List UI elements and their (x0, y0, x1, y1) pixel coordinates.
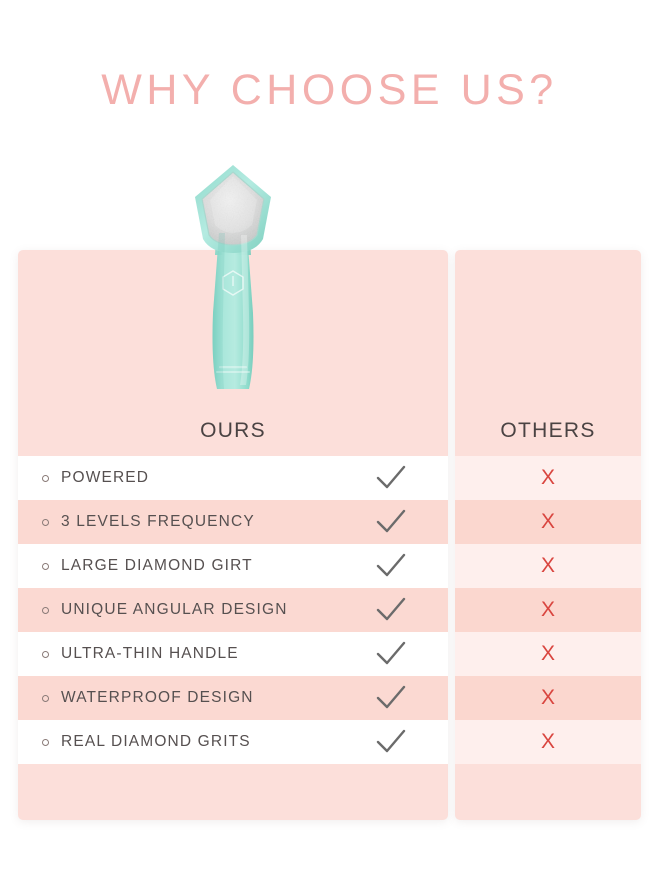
feature-row: REAL DIAMOND GRITS (18, 720, 448, 764)
cross-icon: X (455, 554, 641, 578)
feature-row: LARGE DIAMOND GIRT (18, 544, 448, 588)
feature-label: POWERED (61, 469, 149, 487)
product-image (183, 163, 283, 391)
feature-row: WATERPROOF DESIGN (18, 676, 448, 720)
feature-row: ULTRA-THIN HANDLE (18, 632, 448, 676)
bullet-icon (42, 607, 49, 614)
feature-label: WATERPROOF DESIGN (61, 689, 254, 707)
feature-row: 3 LEVELS FREQUENCY (18, 500, 448, 544)
column-header-others: OTHERS (455, 419, 641, 443)
check-icon (376, 597, 406, 623)
others-row: X (455, 500, 641, 544)
others-row: X (455, 456, 641, 500)
bullet-icon (42, 739, 49, 746)
others-row: X (455, 632, 641, 676)
check-icon (376, 553, 406, 579)
bullet-icon (42, 563, 49, 570)
check-icon (376, 685, 406, 711)
check-icon (376, 729, 406, 755)
ours-feature-list: POWERED3 LEVELS FREQUENCYLARGE DIAMOND G… (18, 456, 448, 764)
bullet-icon (42, 475, 49, 482)
cross-icon: X (455, 730, 641, 754)
others-row: X (455, 544, 641, 588)
cross-icon: X (455, 642, 641, 666)
page-title: WHY CHOOSE US? (0, 66, 659, 115)
others-row: X (455, 676, 641, 720)
others-row: X (455, 588, 641, 632)
check-icon (376, 509, 406, 535)
feature-label: REAL DIAMOND GRITS (61, 733, 251, 751)
check-icon (376, 465, 406, 491)
feature-row: UNIQUE ANGULAR DESIGN (18, 588, 448, 632)
feature-label: ULTRA-THIN HANDLE (61, 645, 239, 663)
feature-label: LARGE DIAMOND GIRT (61, 557, 253, 575)
cross-icon: X (455, 598, 641, 622)
check-icon (376, 641, 406, 667)
cross-icon: X (455, 510, 641, 534)
others-row: X (455, 720, 641, 764)
cross-icon: X (455, 686, 641, 710)
bullet-icon (42, 519, 49, 526)
column-header-ours: OURS (18, 419, 448, 443)
bullet-icon (42, 695, 49, 702)
feature-label: UNIQUE ANGULAR DESIGN (61, 601, 288, 619)
cross-icon: X (455, 466, 641, 490)
bullet-icon (42, 651, 49, 658)
feature-row: POWERED (18, 456, 448, 500)
others-feature-list: XXXXXXX (455, 456, 641, 764)
feature-label: 3 LEVELS FREQUENCY (61, 513, 255, 531)
